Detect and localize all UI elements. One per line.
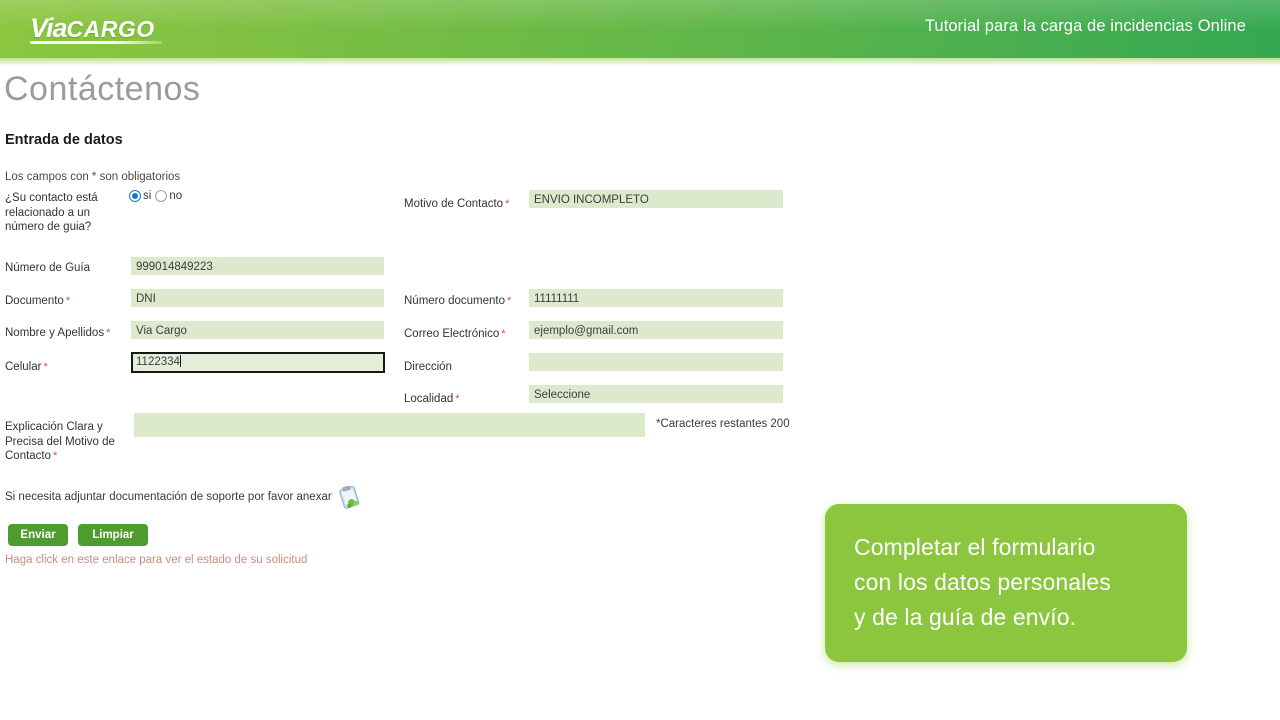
clear-button[interactable]: Limpiar <box>78 524 148 546</box>
guia-question-label: ¿Su contacto está relacionado a un númer… <box>5 191 125 235</box>
viacargo-logo[interactable]: ViaCARGO <box>30 13 155 44</box>
label-localidad: Localidad* <box>404 392 460 407</box>
page-title: Contáctenos <box>4 70 200 109</box>
header-shadow <box>0 58 1280 66</box>
input-numero-de-guia[interactable]: 999014849223 <box>131 257 384 275</box>
header-title: Tutorial para la carga de incidencias On… <box>925 17 1246 36</box>
chars-remaining-text: *Caracteres restantes 200 <box>656 418 790 430</box>
radio-no-label: no <box>169 190 182 202</box>
input-documento[interactable]: DNI <box>131 289 384 307</box>
submit-button[interactable]: Enviar <box>8 524 68 546</box>
label-direccion: Dirección <box>404 360 452 375</box>
site-header: ViaCARGO Tutorial para la carga de incid… <box>0 0 1280 58</box>
input-numero-documento[interactable]: 11111111 <box>529 289 783 307</box>
label-nombre-y-apellidos: Nombre y Apellidos* <box>5 326 110 341</box>
required-asterisk: * <box>43 361 47 373</box>
logo-text-cargo: CARGO <box>67 16 155 42</box>
guia-radio-group[interactable]: si no <box>129 190 186 202</box>
label-numero-de-guia: Número de Guía <box>5 261 90 276</box>
instruction-callout: Completar el formulario con los datos pe… <box>825 504 1187 662</box>
radio-si[interactable] <box>129 190 141 202</box>
required-asterisk: * <box>455 393 459 405</box>
radio-no[interactable] <box>155 190 167 202</box>
input-celular[interactable]: 1122334 <box>131 352 385 373</box>
input-correo-electronico[interactable]: ejemplo@gmail.com <box>529 321 783 339</box>
input-motivo-de-contacto[interactable]: ENVIO INCOMPLETO <box>529 190 783 208</box>
textarea-explicacion[interactable] <box>134 413 645 437</box>
label-correo-electronico: Correo Electrónico* <box>404 327 506 342</box>
input-celular-value: 1122334 <box>136 356 180 368</box>
section-title: Entrada de datos <box>5 132 123 148</box>
status-link[interactable]: Haga click en este enlace para ver el es… <box>5 554 307 566</box>
required-asterisk: * <box>507 295 511 307</box>
label-documento: Documento* <box>5 294 70 309</box>
radio-si-label: si <box>143 190 151 202</box>
required-asterisk: * <box>505 198 509 210</box>
required-asterisk: * <box>106 327 110 339</box>
label-numero-documento: Número documento* <box>404 294 511 309</box>
input-nombre-y-apellidos[interactable]: Via Cargo <box>131 321 384 339</box>
label-motivo-de-contacto: Motivo de Contacto* <box>404 197 509 212</box>
select-localidad[interactable]: Seleccione <box>529 385 783 403</box>
logo-text-via: Via <box>30 13 67 43</box>
attach-instruction-text: Si necesita adjuntar documentación de so… <box>5 491 332 503</box>
required-asterisk: * <box>501 328 505 340</box>
required-fields-note: Los campos con * son obligatorios <box>5 171 180 183</box>
label-celular: Celular* <box>5 360 48 375</box>
required-asterisk: * <box>53 450 57 462</box>
text-caret <box>180 355 181 367</box>
input-direccion[interactable] <box>529 353 783 371</box>
logo-underline <box>30 41 162 44</box>
required-asterisk: * <box>66 295 70 307</box>
clipboard-attach-icon[interactable] <box>337 486 362 510</box>
label-explicacion: Explicación Clara y Precisa del Motivo d… <box>5 420 125 464</box>
instruction-callout-text: Completar el formulario con los datos pe… <box>854 530 1187 635</box>
